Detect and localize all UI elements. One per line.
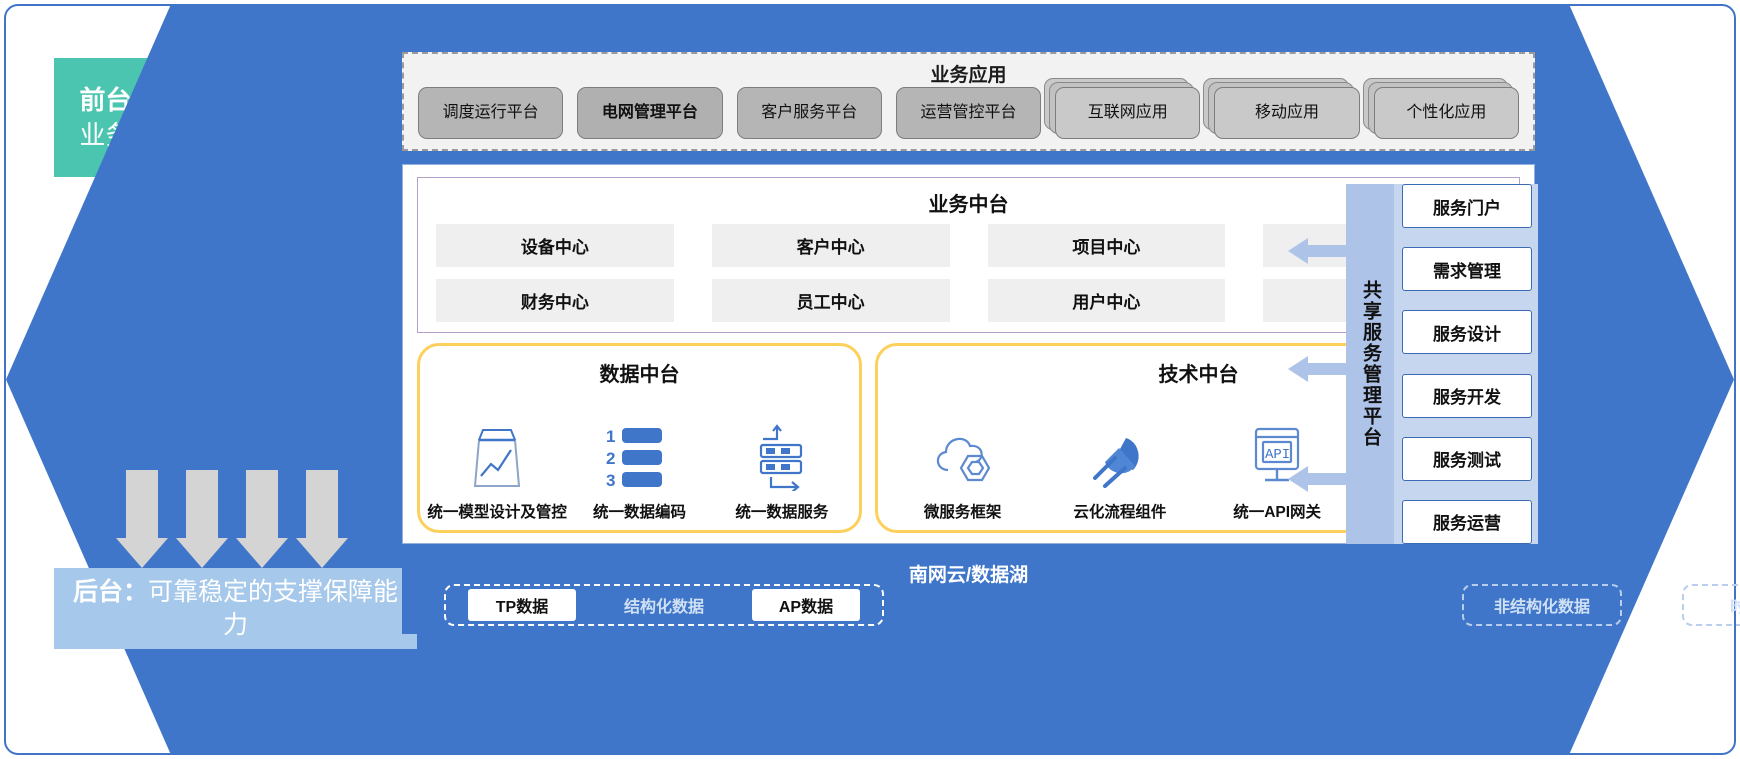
business-center-cell[interactable]: 用户中心 (988, 279, 1226, 322)
cloud-hexagon-icon (930, 420, 996, 494)
app-card-label: 互联网应用 (1055, 87, 1200, 139)
back-stage-lead: 后台： (73, 578, 148, 606)
tech-middle-item-label: 云化流程组件 (1073, 500, 1166, 522)
shared-service-item[interactable]: 服务开发 (1402, 374, 1532, 418)
app-card[interactable]: 客户服务平台 (737, 87, 882, 139)
shared-services-arrow (1288, 354, 1346, 384)
shared-services-bar-label: 共享服务管理平台 (1360, 280, 1380, 448)
app-card-label: 调度运行平台 (418, 87, 563, 139)
business-center-cell[interactable]: 客户中心 (712, 224, 950, 267)
cloud-chip[interactable]: 结构化数据 (610, 589, 718, 621)
business-applications-panel: 业务应用 调度运行平台 电网管理平台 客户服务平台 运营管控平台 互联网应用 (402, 52, 1535, 151)
shared-service-item[interactable]: 服务设计 (1402, 310, 1532, 354)
app-card-label: 个性化应用 (1374, 87, 1519, 139)
svg-text:1: 1 (606, 427, 615, 446)
data-middle-item-label: 统一数据编码 (593, 500, 686, 522)
back-stage-text: 后台：可靠稳定的支撑保障能力 (68, 576, 403, 642)
diagram-frame: 前台：灵活多变，直接面向业务和用户，快速响应需求 中台：由共性的业务和数据组成相… (4, 4, 1736, 755)
data-middle-item-label: 统一模型设计及管控 (427, 500, 567, 522)
cloud-data-lake-panel: 南网云/数据湖 TP数据 结构化数据 AP数据 非结构化数据 时序数据 (402, 554, 1535, 634)
shared-services-list: 服务门户 需求管理 服务设计 服务开发 服务测试 服务运营 (1402, 184, 1532, 544)
tech-middle-item-label: 统一API网关 (1233, 500, 1321, 522)
plug-icon (1089, 420, 1151, 494)
cloud-chip-group: TP数据 结构化数据 AP数据 (444, 584, 884, 626)
data-middle-platform: 数据中台 统一模型设计及管控 (417, 343, 862, 533)
numbered-list-icon: 1 2 3 (604, 420, 674, 494)
business-center-cell[interactable]: 项目中心 (988, 224, 1226, 267)
tech-middle-item[interactable]: 云化流程组件 (1041, 420, 1198, 522)
data-middle-icon-row: 统一模型设计及管控 1 2 3 统一数据编码 (426, 392, 853, 522)
app-card-stacked[interactable]: 个性化应用 (1374, 87, 1519, 139)
tech-middle-item[interactable]: 微服务框架 (884, 420, 1041, 522)
server-flow-icon (751, 420, 813, 494)
data-middle-item[interactable]: 统一数据服务 (711, 420, 853, 522)
app-card[interactable]: 运营管控平台 (896, 87, 1041, 139)
shared-service-item[interactable]: 服务门户 (1402, 184, 1532, 228)
data-middle-item[interactable]: 1 2 3 统一数据编码 (568, 420, 710, 522)
cloud-data-lake-title: 南网云/数据湖 (402, 560, 1535, 587)
business-center-cell[interactable]: 财务中心 (436, 279, 674, 322)
back-stage-body: 可靠稳定的支撑保障能力 (148, 578, 398, 639)
app-card-label: 运营管控平台 (896, 87, 1041, 139)
business-center-cell[interactable]: 设备中心 (436, 224, 674, 267)
svg-text:API: API (1265, 447, 1290, 463)
svg-text:2: 2 (606, 449, 615, 468)
shared-services-arrow (1288, 236, 1346, 266)
model-box-chart-icon (469, 420, 525, 494)
cloud-chip-timeseries[interactable]: 时序数据 (1682, 584, 1740, 626)
app-card-stacked[interactable]: 移动应用 (1214, 87, 1359, 139)
data-middle-item-label: 统一数据服务 (735, 500, 828, 522)
business-applications-row: 调度运行平台 电网管理平台 客户服务平台 运营管控平台 互联网应用 移动应用 (418, 87, 1519, 139)
data-middle-platform-title: 数据中台 (420, 358, 859, 387)
shared-service-item[interactable]: 服务测试 (1402, 437, 1532, 481)
app-card[interactable]: 电网管理平台 (577, 87, 722, 139)
shared-services-bar: 共享服务管理平台 (1346, 184, 1394, 544)
app-card[interactable]: 调度运行平台 (418, 87, 563, 139)
business-center-cell[interactable]: 员工中心 (712, 279, 950, 322)
back-stage-box: 后台：可靠稳定的支撑保障能力 (54, 568, 417, 649)
data-middle-item[interactable]: 统一模型设计及管控 (426, 420, 568, 522)
app-card-label: 电网管理平台 (577, 87, 722, 139)
app-card-stacked[interactable]: 互联网应用 (1055, 87, 1200, 139)
shared-service-item[interactable]: 需求管理 (1402, 247, 1532, 291)
shared-service-item[interactable]: 服务运营 (1402, 500, 1532, 544)
cloud-chip-unstructured[interactable]: 非结构化数据 (1462, 584, 1622, 626)
app-card-label: 移动应用 (1214, 87, 1359, 139)
svg-text:3: 3 (606, 471, 615, 489)
down-arrows-group (106, 470, 356, 568)
app-card-label: 客户服务平台 (737, 87, 882, 139)
shared-services-arrow (1288, 464, 1346, 494)
cloud-chip[interactable]: AP数据 (752, 589, 860, 621)
tech-middle-item-label: 微服务框架 (924, 500, 1002, 522)
cloud-chip[interactable]: TP数据 (468, 589, 576, 621)
